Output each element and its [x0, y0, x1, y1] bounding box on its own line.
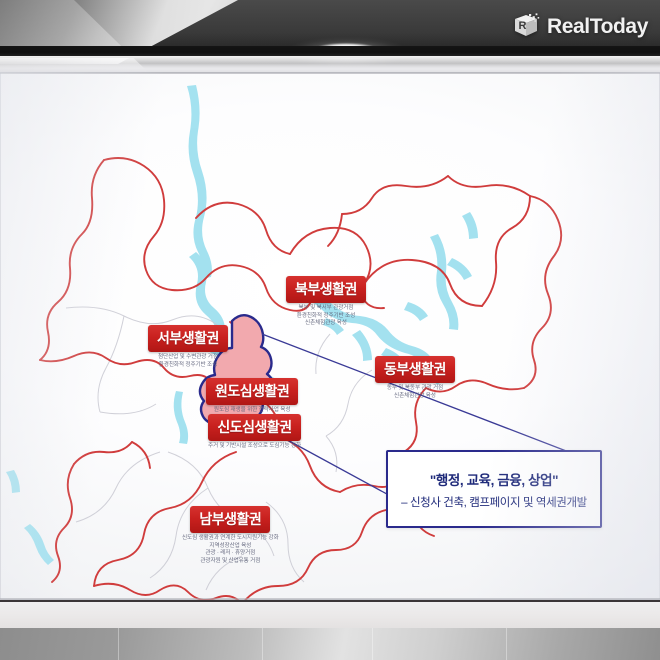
zone-sub-line: 환경친화적 정주기반 조성: [148, 362, 228, 370]
zone-label-north[interactable]: 북부생활권 북부 및 북서부 관광거점 환경친화적 정주기반 조성 신촌체험관광…: [286, 276, 366, 328]
zone-label-new-center[interactable]: 신도심생활권 주거 및 기반시설 조성으로 도심기능 강화: [208, 414, 301, 451]
cube-pixel-logo-icon: R: [511, 12, 541, 42]
zone-sub-line: 주거 및 기반시설 조성으로 도심기능 강화: [208, 443, 301, 451]
map-district-outlines: [40, 158, 561, 600]
zone-sub-line: 동부 및 북동부 관광 거점: [375, 385, 455, 393]
zone-sub-line: 북부 및 북서부 관광거점: [286, 305, 366, 313]
screenshot-root: R RealToday: [0, 0, 660, 660]
room-wall-band: [0, 600, 660, 630]
zone-label-west[interactable]: 서부생활권 첨단산업 및 수변관광 거점 환경친화적 정주기반 조성: [148, 325, 228, 369]
zone-badge-east: 동부생활권: [375, 356, 455, 383]
zone-badge-old-center: 원도심생활권: [206, 378, 298, 405]
zone-badge-new-center: 신도심생활권: [208, 414, 300, 441]
zone-label-old-center[interactable]: 원도심생활권 원도심 재생을 위한 전략사업 육성: [206, 378, 298, 415]
callout-subtitle: – 신청사 건축, 캠프페이지 및 역세권개발: [401, 494, 587, 510]
zone-sub-line: 관광 · 레저 · 휴양거점: [182, 550, 279, 558]
zone-sub-east: 동부 및 북동부 관광 거점 신촌체험관광 육성: [375, 385, 455, 400]
zone-sub-line: 신촌체험관광 육성: [375, 393, 455, 401]
callout-box[interactable]: "행정, 교육, 금융, 상업" – 신청사 건축, 캠프페이지 및 역세권개발: [386, 450, 602, 528]
zone-sub-north: 북부 및 북서부 관광거점 환경친화적 정주기반 조성 신촌체험관광 육성: [286, 305, 366, 328]
wall-display-screen: 북부생활권 북부 및 북서부 관광거점 환경친화적 정주기반 조성 신촌체험관광…: [0, 72, 660, 600]
realtoday-logo[interactable]: R RealToday: [511, 12, 648, 42]
zone-sub-line: 신촌체험관광 육성: [286, 320, 366, 328]
room-floor: [0, 628, 660, 660]
ceiling-cove-light: [0, 56, 660, 72]
zone-label-east[interactable]: 동부생활권 동부 및 북동부 관광 거점 신촌체험관광 육성: [375, 356, 455, 400]
zone-label-south[interactable]: 남부생활권 신도심 생활권과 연계한 도시지원기능 강화 지역성장산업 육성 관…: [182, 506, 279, 565]
floor-seam: [118, 628, 119, 660]
callout-title: "행정, 교육, 금융, 상업": [430, 469, 558, 489]
svg-text:R: R: [518, 20, 526, 32]
zone-sub-line: 신도심 생활권과 연계한 도시지원기능 강화: [182, 535, 279, 543]
floor-seam: [506, 628, 507, 660]
zone-badge-south: 남부생활권: [190, 506, 270, 533]
floor-seam: [262, 628, 263, 660]
zone-sub-line: 첨단산업 및 수변관광 거점: [148, 354, 228, 362]
zone-sub-west: 첨단산업 및 수변관광 거점 환경친화적 정주기반 조성: [148, 354, 228, 369]
floor-seam: [372, 628, 373, 660]
zone-sub-line: 관광자원 및 산업유통 거점: [182, 558, 279, 566]
zone-sub-new-center: 주거 및 기반시설 조성으로 도심기능 강화: [208, 443, 301, 451]
logo-wordmark: RealToday: [547, 15, 648, 39]
zone-sub-south: 신도심 생활권과 연계한 도시지원기능 강화 지역성장산업 육성 관광 · 레저…: [182, 535, 279, 565]
zone-badge-west: 서부생활권: [148, 325, 228, 352]
zone-badge-north: 북부생활권: [286, 276, 366, 303]
